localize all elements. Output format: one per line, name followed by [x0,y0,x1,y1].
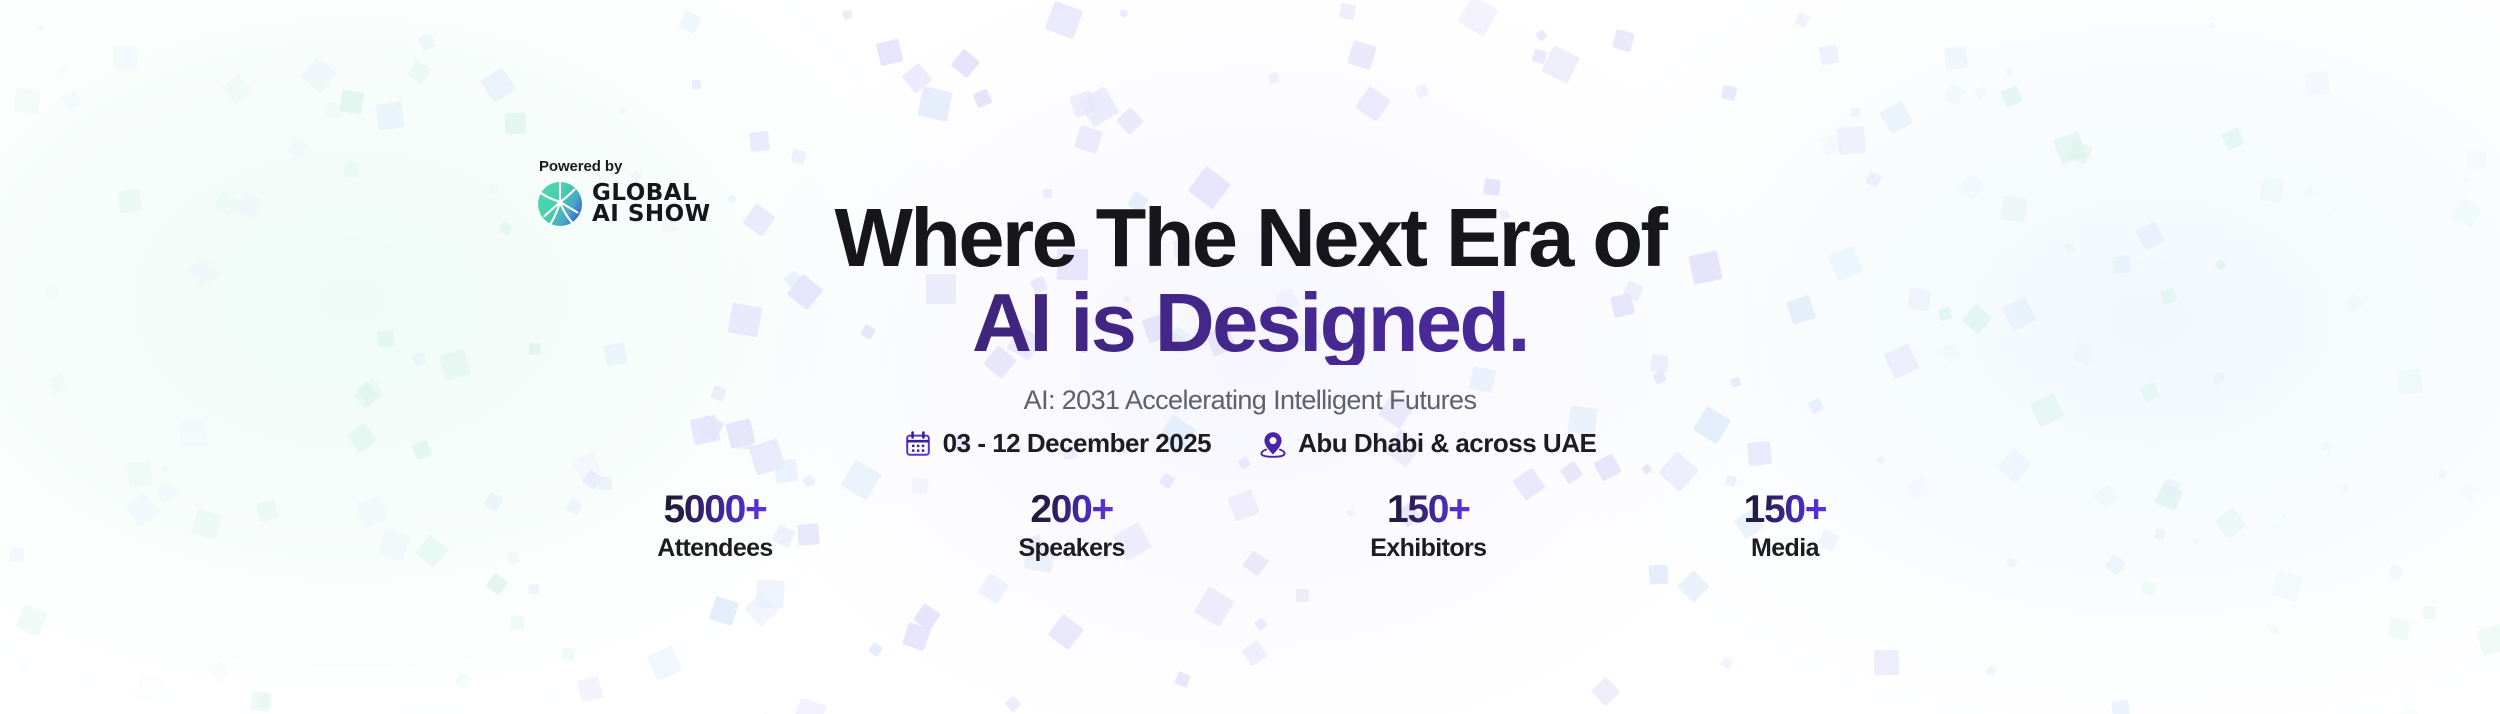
stat-attendees: 5000+ Attendees [640,488,790,563]
location-pin-icon [1259,430,1287,458]
event-date-item: 03 - 12 December 2025 [904,428,1211,459]
stat-speakers-label: Speakers [1018,533,1124,563]
stats-row: 5000+ Attendees 200+ Speakers 150+ Exhib… [640,488,1860,563]
hero-banner: Powered by [0,0,2500,714]
banner-content: Powered by [0,0,2500,714]
stat-attendees-label: Attendees [657,533,772,563]
calendar-icon [904,430,932,458]
event-date-text: 03 - 12 December 2025 [943,428,1211,459]
stat-media-label: Media [1751,533,1819,563]
stat-exhibitors-label: Exhibitors [1370,533,1486,563]
event-location-text: Abu Dhabi & across UAE [1298,428,1596,459]
subtitle: AI: 2031 Accelerating Intelligent Future… [0,385,2500,416]
stat-media: 150+ Media [1710,488,1860,563]
powered-by-label: Powered by [539,158,622,175]
stat-exhibitors-value: 150+ [1387,488,1470,532]
stat-media-value: 150+ [1744,488,1827,532]
stat-speakers-value: 200+ [1030,488,1113,532]
event-meta-row: 03 - 12 December 2025 Abu Dhabi & across… [0,428,2500,459]
page-title: Where The Next Era of AI is Designed. [0,196,2500,365]
headline-line-1: Where The Next Era of [0,196,2500,281]
event-location-item: Abu Dhabi & across UAE [1259,428,1596,459]
stat-speakers: 200+ Speakers [997,488,1147,563]
headline-line-2: AI is Designed. [0,281,2500,366]
stat-exhibitors: 150+ Exhibitors [1353,488,1503,563]
stat-attendees-value: 5000+ [663,488,766,532]
